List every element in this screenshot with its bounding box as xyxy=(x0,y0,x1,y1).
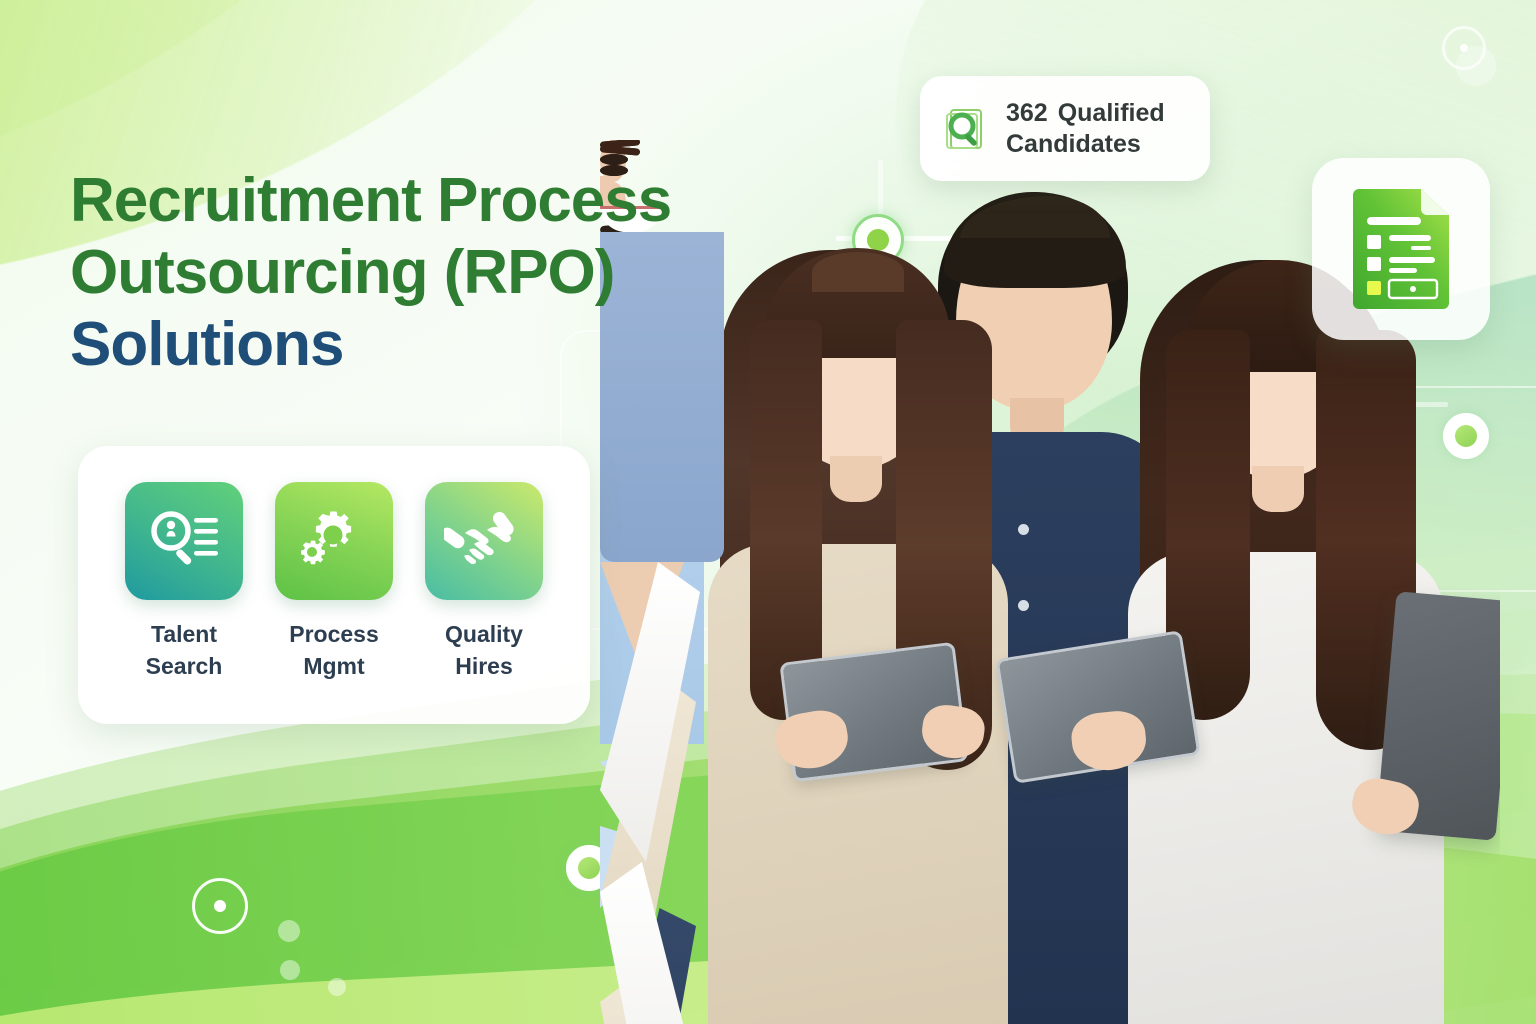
feature-tile-1 xyxy=(125,482,243,600)
man-shirt-button-1 xyxy=(1018,524,1029,535)
feature-talent-search[interactable]: Talent Search xyxy=(119,482,249,724)
status-badge: 362Qualified Candidates xyxy=(920,76,1210,181)
decorative-dot-2 xyxy=(280,960,300,980)
headline-line-2: Outsourcing (RPO) xyxy=(70,237,810,309)
feature-tile-3 xyxy=(425,482,543,600)
handshake-icon xyxy=(444,511,524,571)
gears-icon xyxy=(296,507,372,575)
decorative-dot-3 xyxy=(328,978,346,996)
feature-quality-hires[interactable]: Quality Hires xyxy=(419,482,549,724)
decorative-dot-4 xyxy=(1456,46,1496,86)
man-hair-sweep xyxy=(960,196,1110,238)
woman-right-lapel-left xyxy=(600,562,700,862)
search-document-icon xyxy=(942,105,990,153)
feature-card: Talent Search Process Mgmt xyxy=(78,446,590,724)
feature-tile-2 xyxy=(275,482,393,600)
woman-right-eye-left xyxy=(600,154,628,165)
decorative-dot-1 xyxy=(278,920,300,942)
status-badge-label-line1: Qualified xyxy=(1058,99,1165,127)
woman-right-lapel-right xyxy=(600,862,700,1024)
feature-label-3: Quality Hires xyxy=(445,618,523,682)
rpo-marketing-banner: Recruitment Process Outsourcing (RPO) So… xyxy=(0,0,1536,1024)
status-badge-count: 362 xyxy=(1006,99,1048,127)
woman-right-neck xyxy=(1252,466,1304,512)
feature-label-2: Process Mgmt xyxy=(289,618,379,682)
magnifier-person-icon xyxy=(147,506,221,576)
feature-label-1: Talent Search xyxy=(146,618,223,682)
resume-checklist-icon xyxy=(1347,187,1455,311)
page-title: Recruitment Process Outsourcing (RPO) So… xyxy=(70,165,810,381)
feature-process-mgmt[interactable]: Process Mgmt xyxy=(269,482,399,724)
headline-line-3: Solutions xyxy=(70,309,810,381)
document-card xyxy=(1312,158,1490,340)
headline-line-1: Recruitment Process xyxy=(70,165,810,237)
decorative-node-icon-4 xyxy=(192,878,248,934)
status-badge-text: 362Qualified Candidates xyxy=(1006,98,1165,159)
status-badge-label-line2: Candidates xyxy=(1006,130,1141,158)
man-shirt-button-2 xyxy=(1018,600,1029,611)
